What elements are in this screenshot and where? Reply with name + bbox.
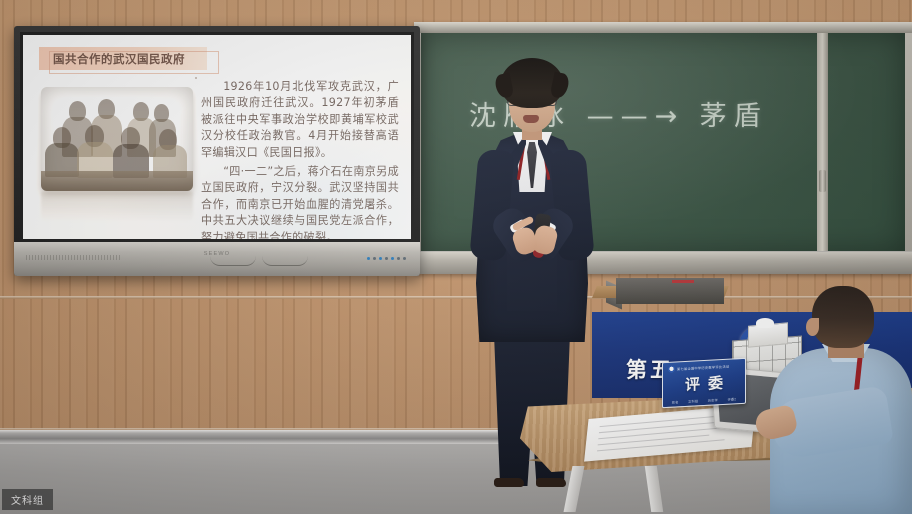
nameplate-header-text: 第七届全国中学历史教学评比活动 (677, 364, 729, 372)
whiteboard-vent-strip (26, 255, 122, 260)
lectern[interactable] (592, 272, 724, 318)
whiteboard-chin-bar: SEEWO (14, 242, 420, 276)
chalkboard-top-rail (414, 22, 912, 33)
classroom-scene: 沈雁冰 ——→ 茅盾 国共合作的武汉国民政府 (0, 0, 912, 514)
presentation-slide[interactable]: 国共合作的武汉国民政府 (23, 35, 411, 239)
slide-paragraph-2: “四·一二”之后，蒋介石在南京另成立国民政府，宁汉分裂。武汉坚持国共合作，而南京… (201, 164, 399, 239)
judge-nameplate: 第七届全国中学历史教学评比活动 评委 姓名 文科组 历史学 评委2 (662, 358, 746, 408)
lectern-front-panel (616, 278, 724, 304)
nameplate-footer-item-2: 历史学 (708, 397, 718, 403)
nameplate-footer: 姓名 文科组 历史学 评委2 (663, 396, 745, 405)
teacher-hair (501, 58, 563, 108)
nameplate-footer-item-0: 姓名 (672, 399, 679, 404)
nameplate-seal-icon (668, 366, 675, 373)
lectern-marker (672, 280, 694, 283)
whiteboard-status-leds (367, 257, 406, 260)
historical-group-photo (41, 87, 193, 191)
slide-title: 国共合作的武汉国民政府 (53, 51, 185, 67)
interactive-whiteboard[interactable]: 国共合作的武汉国民政府 (14, 26, 420, 276)
observer-figure (770, 286, 912, 514)
teacher-mouth (523, 115, 539, 123)
channel-watermark: 文科组 (2, 489, 53, 510)
nameplate-footer-item-1: 文科组 (688, 398, 698, 404)
slide-body-text: 1926年10月北伐军攻克武汉，广州国民政府迁往武汉。1927年初茅盾被派往中央… (201, 79, 399, 239)
desk-leg-left (564, 466, 585, 512)
chalkboard-handle[interactable] (819, 170, 826, 192)
speaker-grille-right (262, 256, 308, 266)
slide-bullet-dot (195, 77, 197, 79)
observer-ear (806, 318, 819, 336)
slide-title-container: 国共合作的武汉国民政府 (39, 47, 219, 70)
photo-table-edge (41, 171, 193, 191)
whiteboard-bezel: 国共合作的武汉国民政府 (20, 32, 414, 242)
desk-leg-right (645, 466, 663, 512)
nameplate-footer-item-3: 评委2 (727, 396, 736, 401)
observer-head (812, 286, 874, 348)
chalkboard-slide-track (817, 33, 828, 252)
photo-reflection (41, 192, 193, 222)
slide-paragraph-1: 1926年10月北伐军攻克武汉，广州国民政府迁往武汉。1927年初茅盾被派往中央… (201, 79, 399, 161)
nameplate-role-label: 评委 (663, 371, 745, 396)
speaker-grille-left (210, 256, 256, 266)
